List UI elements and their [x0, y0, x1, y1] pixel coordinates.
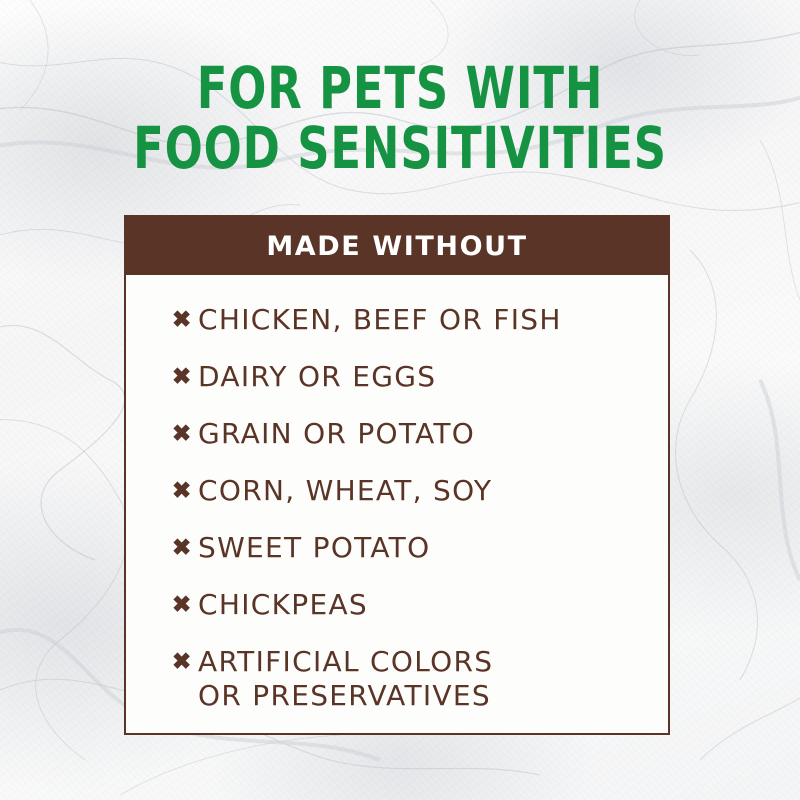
cross-icon: ✖ — [172, 303, 198, 335]
cross-icon: ✖ — [172, 588, 198, 620]
list-item: ✖ CHICKEN, BEEF OR FISH — [126, 303, 668, 337]
made-without-card: MADE WITHOUT ✖ CHICKEN, BEEF OR FISH ✖ D… — [124, 215, 670, 735]
card-header: MADE WITHOUT — [126, 217, 668, 275]
headline-line-1: FOR PETS WITH — [56, 58, 744, 118]
cross-icon: ✖ — [172, 645, 198, 677]
page-title: FOR PETS WITH FOOD SENSITIVITIES — [56, 58, 744, 178]
card-body: ✖ CHICKEN, BEEF OR FISH ✖ DAIRY OR EGGS … — [126, 275, 668, 713]
list-item-label: GRAIN OR POTATO — [198, 417, 654, 451]
product-claims-poster: FOR PETS WITH FOOD SENSITIVITIES MADE WI… — [0, 0, 800, 800]
list-item-label: CHICKPEAS — [198, 588, 654, 622]
list-item: ✖ ARTIFICIAL COLORS OR PRESERVATIVES — [126, 645, 668, 713]
headline-line-2: FOOD SENSITIVITIES — [56, 118, 744, 178]
list-item: ✖ SWEET POTATO — [126, 531, 668, 565]
cross-icon: ✖ — [172, 474, 198, 506]
list-item: ✖ CHICKPEAS — [126, 588, 668, 622]
excluded-ingredients-list: ✖ CHICKEN, BEEF OR FISH ✖ DAIRY OR EGGS … — [126, 303, 668, 713]
list-item-label: ARTIFICIAL COLORS OR PRESERVATIVES — [198, 645, 654, 713]
list-item: ✖ CORN, WHEAT, SOY — [126, 474, 668, 508]
list-item-label: CORN, WHEAT, SOY — [198, 474, 654, 508]
cross-icon: ✖ — [172, 531, 198, 563]
cross-icon: ✖ — [172, 360, 198, 392]
cross-icon: ✖ — [172, 417, 198, 449]
list-item-label: SWEET POTATO — [198, 531, 654, 565]
list-item-label: DAIRY OR EGGS — [198, 360, 654, 394]
list-item-label: CHICKEN, BEEF OR FISH — [198, 303, 654, 337]
list-item: ✖ DAIRY OR EGGS — [126, 360, 668, 394]
list-item: ✖ GRAIN OR POTATO — [126, 417, 668, 451]
card-header-title: MADE WITHOUT — [266, 231, 527, 262]
